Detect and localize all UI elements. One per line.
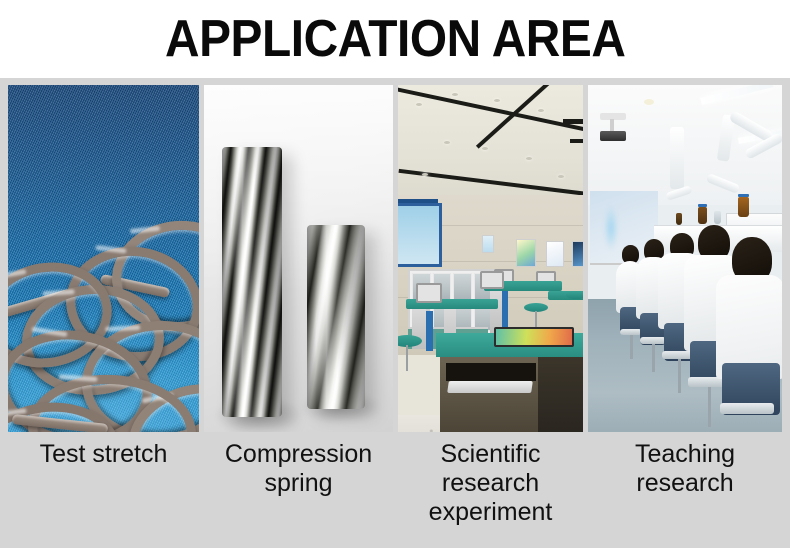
downlight-icon [494,99,500,102]
wall-poster [572,241,583,267]
wall-poster [546,241,564,267]
stool-leg [708,387,711,427]
large-compression-spring [222,147,282,417]
downlight-icon [416,103,422,106]
monitor [480,271,504,289]
window [398,203,442,267]
caption-test-stretch: Test stretch [8,438,199,538]
image-panel-test-stretch[interactable] [8,85,199,432]
caption-teaching-research: Teaching research [588,438,782,538]
reagent-bottle [676,213,682,225]
exhaust-duct [670,127,684,189]
stool-leg [652,344,655,372]
bottle-cap [698,204,707,207]
stool-leg [678,359,681,393]
image-panel-teaching-research[interactable] [588,85,782,432]
lab-stool [720,403,774,414]
downlight-icon [644,99,654,105]
keyboard [447,381,533,393]
spring-highlight [222,147,282,417]
reagent-bottle [698,207,707,224]
embedded-display [494,327,574,347]
image-panel-scientific-research-experiment[interactable] [398,85,583,432]
bench-panel [502,291,508,331]
caption-compression-spring: Compression spring [204,438,393,538]
image-panel-compression-spring[interactable] [204,85,393,432]
monitor [416,283,442,303]
springs-photo [204,85,393,432]
downlight-icon [526,157,532,160]
small-compression-spring [307,225,365,409]
caption-scientific-research-experiment: Scientific research experiment [398,438,583,538]
downlight-icon [422,173,428,176]
wall-poster [482,235,494,253]
lab-stool [566,291,583,299]
page-footer [0,548,790,557]
downlight-icon [482,147,488,150]
bench-recess [446,363,536,381]
projection-glow [604,205,618,251]
tubing-photo [8,85,199,432]
page-title-bar: APPLICATION AREA [0,0,790,78]
caption-row: Test stretch Compression spring Scientif… [8,438,782,538]
gallery-card: Test stretch Compression spring Scientif… [0,78,790,548]
reagent-bottle [714,211,721,224]
downlight-icon [538,109,544,112]
projector [600,131,626,141]
front-bench-cabinet [538,357,583,432]
cabinet-cell [453,273,472,301]
page-title: APPLICATION AREA [165,13,625,65]
downlight-icon [452,93,458,96]
lab-classroom-render [398,85,583,432]
stool-leg [630,335,633,359]
downlight-icon [558,175,564,178]
spring-highlight [307,225,365,409]
ceiling [398,85,583,203]
bench-panel [426,311,433,351]
image-panel-row [8,85,782,432]
reagent-bottle [738,197,749,217]
ceiling-vent [563,119,583,124]
ceiling-vent [570,139,583,143]
teaching-lab-photo [588,85,782,432]
downlight-icon [444,141,450,144]
stool-leg [406,345,408,371]
lab-stool [640,337,666,344]
bottle-cap [738,194,749,197]
wall-poster [516,239,536,267]
application-area-page: APPLICATION AREA [0,0,790,557]
